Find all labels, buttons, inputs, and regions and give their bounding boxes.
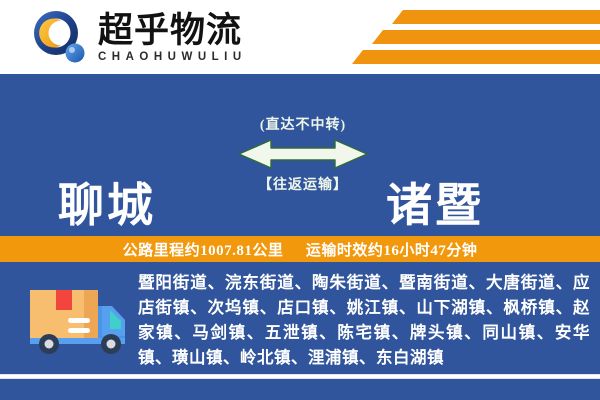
route-arrow-block: (直达不中转) 【往返运输】 [228, 114, 378, 194]
coverage-section: 暨阳街道、浣东街道、陶朱街道、暨南街道、大唐街道、应店街镇、次坞镇、店口镇、姚江… [0, 262, 600, 400]
circle-crescent-logo-icon [30, 8, 90, 68]
header-stripe-1 [392, 10, 600, 24]
logistics-route-poster: 超乎物流 CHAOHUWULIU 聊城 (直达不中转) 【往返运输】 诸暨 公路… [0, 0, 600, 400]
brand-text-block: 超乎物流 CHAOHUWULIU [98, 13, 247, 64]
route-note-roundtrip: 【往返运输】 [228, 174, 378, 194]
coverage-areas-text: 暨阳街道、浣东街道、陶朱街道、暨南街道、大唐街道、应店街镇、次坞镇、店口镇、姚江… [138, 270, 590, 370]
route-info-bar: 公路里程约1007.81公里 运输时效约16小时47分钟 [0, 236, 600, 262]
distance-text: 公路里程约1007.81公里 [123, 243, 284, 259]
route-panel: 聊城 (直达不中转) 【往返运输】 诸暨 [0, 74, 600, 236]
bidirectional-arrow-icon [228, 137, 378, 171]
route-note-direct: (直达不中转) [228, 114, 378, 134]
header-stripes-decoration [340, 10, 600, 66]
header-stripe-2 [372, 30, 600, 44]
brand-name-cn: 超乎物流 [98, 13, 247, 50]
header-stripe-3 [352, 50, 600, 64]
destination-city: 诸暨 [386, 169, 484, 235]
info-bar-content: 公路里程约1007.81公里 运输时效约16小时47分钟 [123, 239, 478, 260]
brand-name-en: CHAOHUWULIU [98, 51, 247, 63]
duration-text: 运输时效约16小时47分钟 [306, 243, 478, 259]
bottom-divider [0, 374, 600, 379]
poster-header: 超乎物流 CHAOHUWULIU [0, 0, 600, 74]
delivery-truck-icon [22, 280, 130, 358]
origin-city: 聊城 [58, 169, 156, 235]
brand-logo: 超乎物流 CHAOHUWULIU [30, 8, 247, 68]
